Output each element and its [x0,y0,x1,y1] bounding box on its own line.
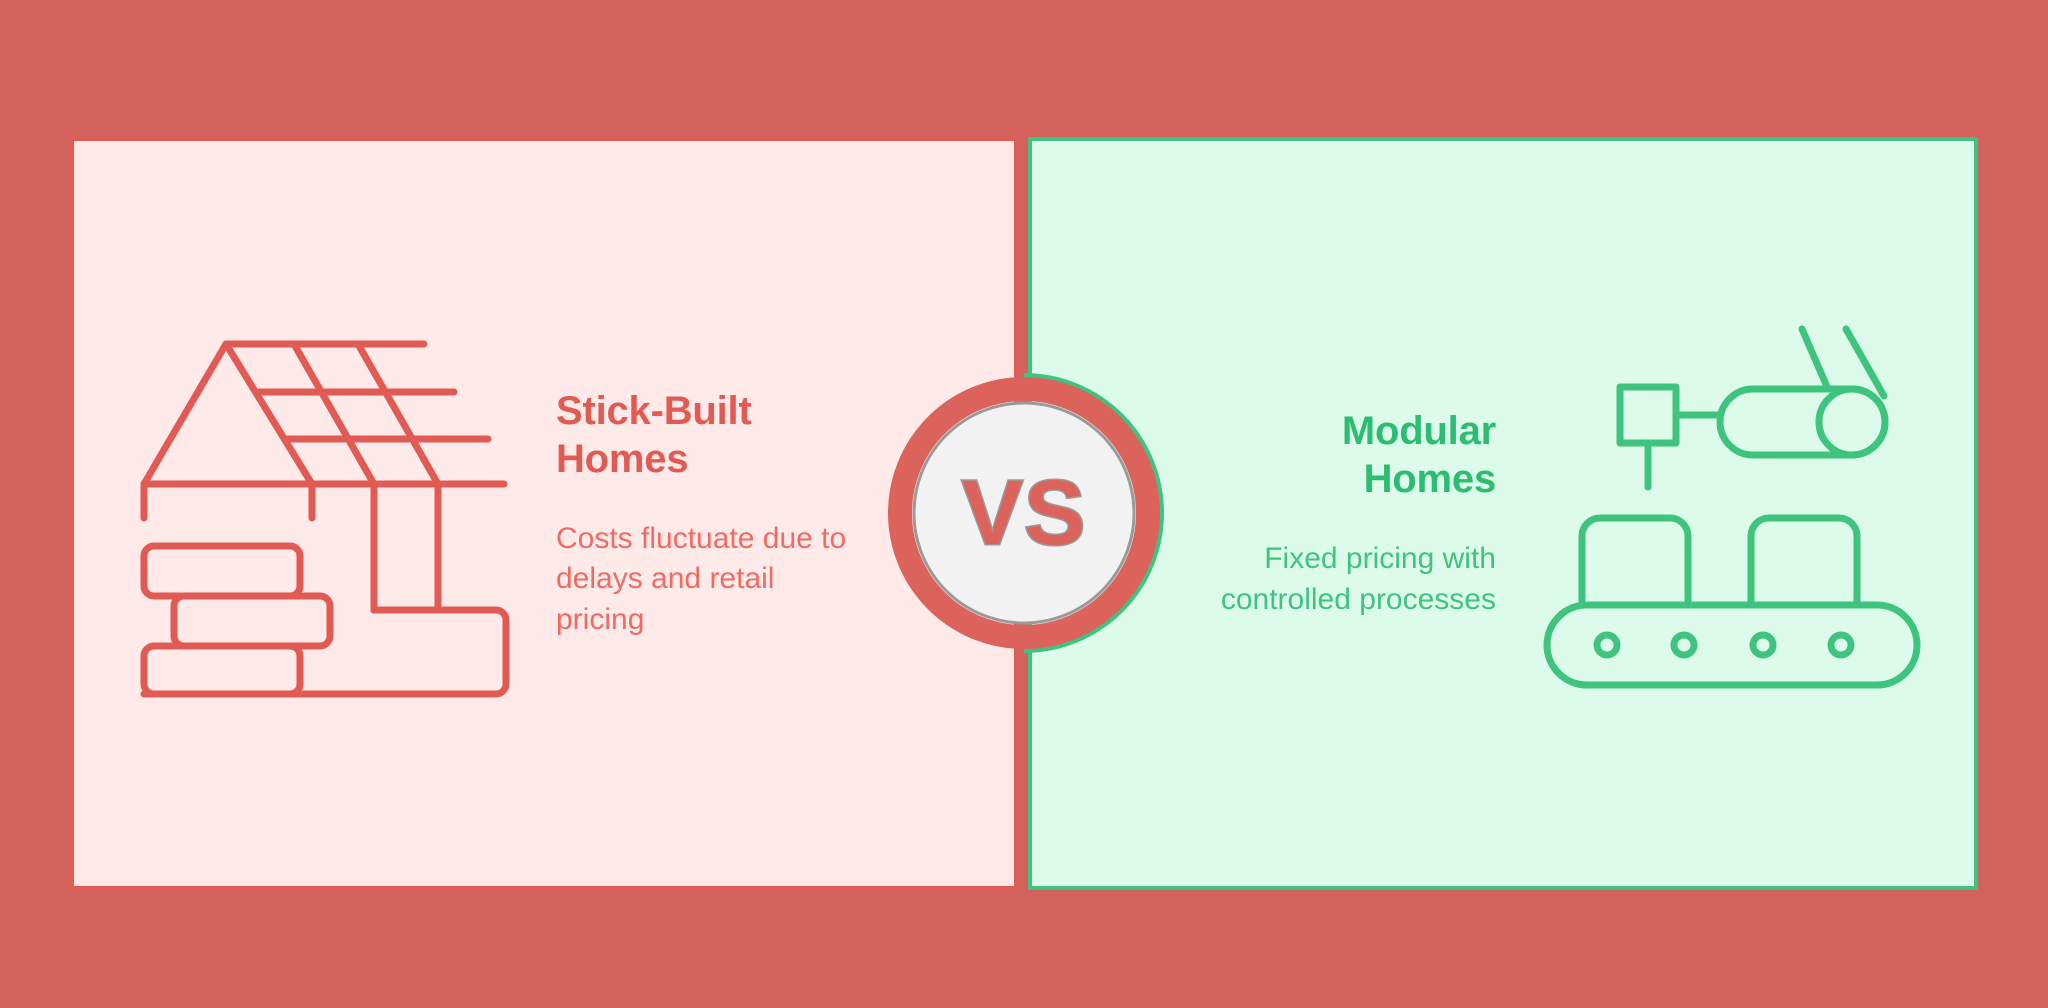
modular-homes-panel: Modular Homes Fixed pricing with control… [1028,137,1978,890]
modular-homes-title: Modular Homes [1236,407,1496,503]
modular-homes-subtitle: Fixed pricing with controlled processes [1206,539,1496,620]
badge-inner-disc [914,403,1134,623]
stick-built-panel: Stick-Built Homes Costs fluctuate due to… [70,137,1018,890]
stick-built-subtitle: Costs fluctuate due to delays and retail… [556,519,856,641]
stick-built-title: Stick-Built Homes [556,387,796,483]
factory-conveyor-robot-icon [1532,314,1932,714]
vs-badge: VS [884,373,1164,653]
comparison-infographic: Stick-Built Homes Costs fluctuate due to… [0,0,2048,1008]
house-under-construction-icon [116,314,516,714]
